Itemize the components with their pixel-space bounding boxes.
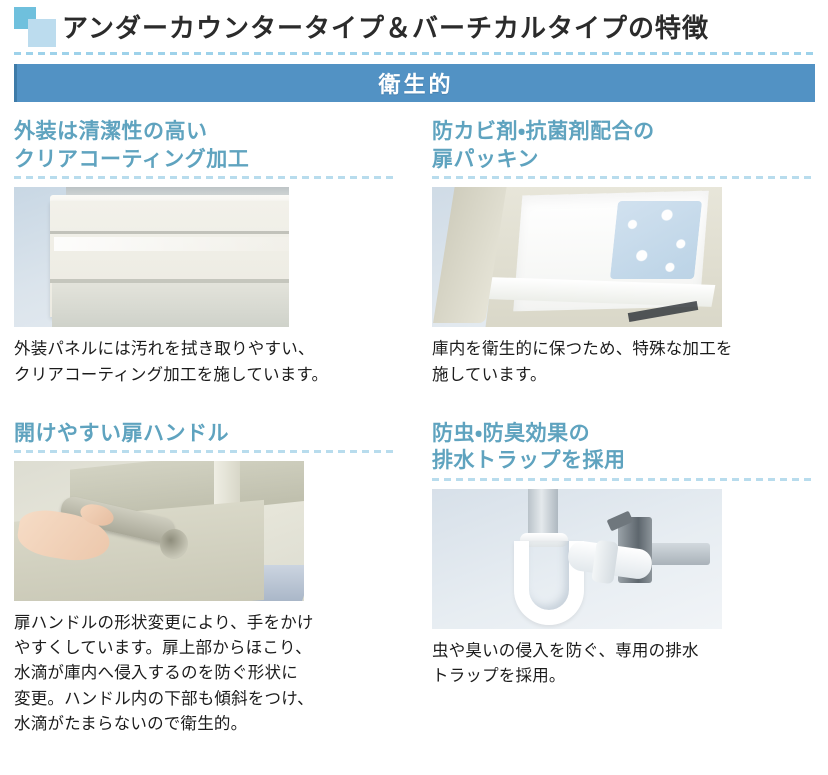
page-header: アンダーカウンタータイプ＆バーチカルタイプの特徴: [0, 0, 828, 52]
feature-heading: 開けやすい扉ハンドル: [14, 414, 398, 448]
feature-drain-trap: 防虫・防臭効果の 排水トラップを採用 虫や臭いの侵入を防ぐ、専用の排水 トラップ…: [416, 414, 828, 690]
feature-grid: 外装は清潔性の高い クリアコーティング加工 外装パネルには汚れを拭き取りやすい、…: [0, 112, 828, 737]
feature-page: アンダーカウンタータイプ＆バーチカルタイプの特徴 衛生的 外装は清潔性の高い ク…: [0, 0, 828, 775]
feature-heading: 防カビ剤・抗菌剤配合の 扉パッキン: [432, 112, 814, 173]
header-dashed-divider: [14, 52, 814, 55]
page-title: アンダーカウンタータイプ＆バーチカルタイプの特徴: [62, 8, 709, 45]
feature-body-text: 扉ハンドルの形状変更により、手をかけ やすくしています。扉上部からほこり、 水滴…: [14, 611, 398, 736]
exterior-clear-coating-photo: [14, 187, 289, 327]
feature-column-right: 防カビ剤・抗菌剤配合の 扉パッキン 庫内を衛生的に保つため、特殊な加工を 施して…: [416, 112, 828, 737]
feature-heading-divider: [14, 450, 398, 453]
feature-body-text: 庫内を衛生的に保つため、特殊な加工を 施しています。: [432, 337, 814, 387]
drain-trap-photo: [432, 489, 722, 629]
section-banner: 衛生的: [14, 64, 815, 102]
feature-heading: 外装は清潔性の高い クリアコーティング加工: [14, 112, 398, 173]
door-handle-photo: [14, 461, 304, 601]
section-banner-label: 衛生的: [378, 67, 453, 99]
feature-heading: 防虫・防臭効果の 排水トラップを採用: [432, 414, 814, 475]
feature-heading-divider: [14, 176, 398, 179]
feature-body-text: 外装パネルには汚れを拭き取りやすい、 クリアコーティング加工を施しています。: [14, 337, 398, 387]
feature-heading-divider: [432, 176, 814, 179]
feature-column-left: 外装は清潔性の高い クリアコーティング加工 外装パネルには汚れを拭き取りやすい、…: [0, 112, 412, 737]
header-decoration: [14, 7, 58, 47]
door-packing-photo: [432, 187, 722, 327]
feature-body-text: 虫や臭いの侵入を防ぐ、専用の排水 トラップを採用。: [432, 639, 814, 689]
feature-door-packing: 防カビ剤・抗菌剤配合の 扉パッキン 庫内を衛生的に保つため、特殊な加工を 施して…: [416, 112, 828, 388]
feature-heading-divider: [432, 478, 814, 481]
square-mark-secondary-icon: [28, 19, 56, 47]
feature-clear-coating: 外装は清潔性の高い クリアコーティング加工 外装パネルには汚れを拭き取りやすい、…: [0, 112, 412, 388]
feature-door-handle: 開けやすい扉ハンドル 扉ハンドルの形状変更により、手をかけ やすくしています。扉…: [0, 414, 412, 737]
